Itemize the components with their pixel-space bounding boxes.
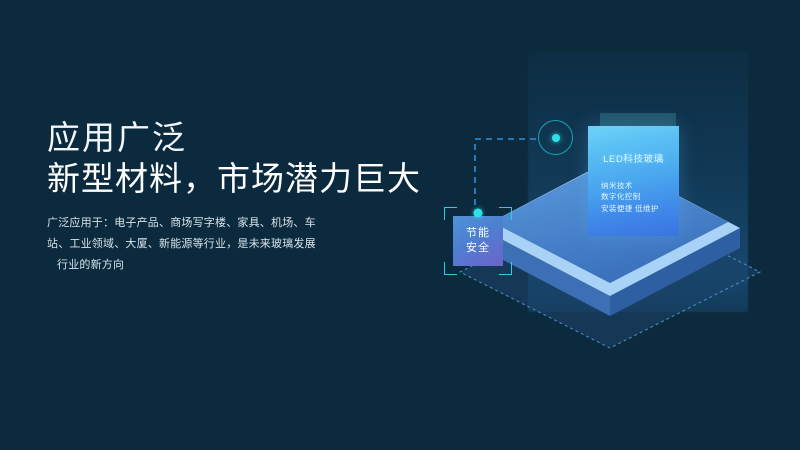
feature-badge[interactable]: 节能 安全 xyxy=(442,205,514,277)
glass-feature-3: 安装便捷 低维护 xyxy=(601,203,659,214)
bracket-top-left-icon xyxy=(444,207,457,220)
page-title-line-2: 新型材料，市场潜力巨大 xyxy=(47,158,447,200)
body-line-3: 行业的新方向 xyxy=(47,255,367,276)
glass-panel-card[interactable]: LED科技玻璃 纳米技术 数字化控制 安装便捷 低维护 xyxy=(588,126,679,236)
glass-feature-1: 纳米技术 xyxy=(601,180,659,191)
node-marker-icon[interactable] xyxy=(538,120,573,155)
body-line-1: 广泛应用于：电子产品、商场写字楼、家具、机场、车 xyxy=(47,213,367,234)
feature-badge-line-1: 节能 xyxy=(466,226,490,241)
bracket-bottom-left-icon xyxy=(444,262,457,275)
node-marker-dot-icon xyxy=(552,134,560,142)
feature-badge-card[interactable]: 节能 安全 xyxy=(453,216,503,266)
page-title-line-1: 应用广泛 xyxy=(47,118,447,158)
text-block: 应用广泛 新型材料，市场潜力巨大 广泛应用于：电子产品、商场写字楼、家具、机场、… xyxy=(47,118,447,276)
glass-panel-feature-list: 纳米技术 数字化控制 安装便捷 低维护 xyxy=(601,180,659,214)
body-line-2: 站、工业领域、大厦、新能源等行业，是未来玻璃发展 xyxy=(47,234,367,255)
feature-badge-line-2: 安全 xyxy=(466,241,490,256)
badge-anchor-dot-icon xyxy=(474,209,483,218)
glass-panel-title: LED科技玻璃 xyxy=(588,151,679,165)
illustration: LED科技玻璃 纳米技术 数字化控制 安装便捷 低维护 节能 安全 xyxy=(420,0,800,450)
slide-canvas: 应用广泛 新型材料，市场潜力巨大 广泛应用于：电子产品、商场写字楼、家具、机场、… xyxy=(0,0,800,450)
body-paragraph: 广泛应用于：电子产品、商场写字楼、家具、机场、车 站、工业领域、大厦、新能源等行… xyxy=(47,213,367,276)
bracket-bottom-right-icon xyxy=(499,262,512,275)
glass-feature-2: 数字化控制 xyxy=(601,191,659,202)
bracket-top-right-icon xyxy=(499,207,512,220)
